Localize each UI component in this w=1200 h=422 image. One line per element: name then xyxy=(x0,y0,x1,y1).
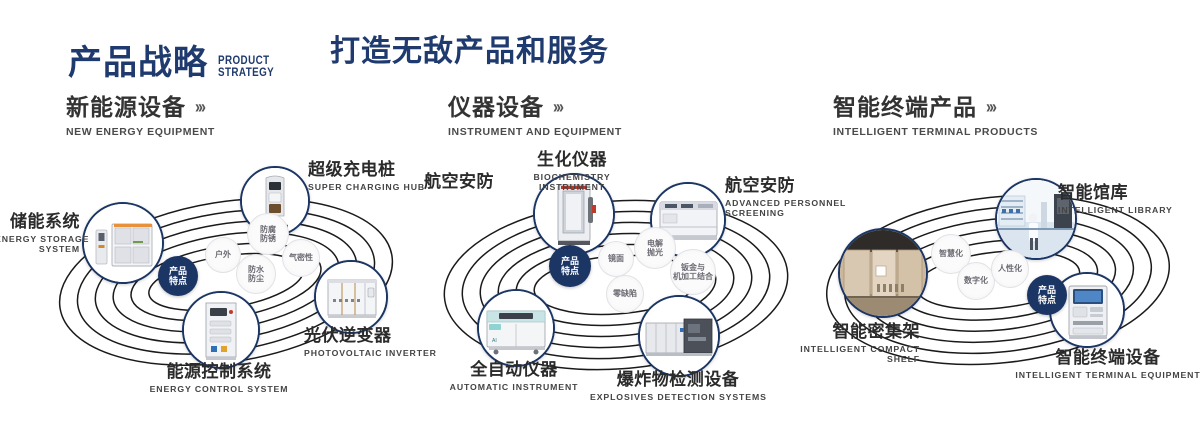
cluster-intelligent-terminal: 智能馆库 INTELLIGENT LIBRARY xyxy=(805,150,1200,415)
feature-label: 户外 xyxy=(215,250,231,259)
node-label-cn: 储能系统 xyxy=(0,212,80,232)
node-label-intelligent-compact-shelf: 智能密集架 INTELLIGENT COMPACTSHELF xyxy=(760,322,920,365)
cluster-instrument: 生化仪器 BIOCHEMISTRYINSTRUMENT 航空安防 航空安防 AD… xyxy=(420,150,820,415)
feature-bubble-electropolishing: 电解抛光 xyxy=(634,227,676,269)
feature-label: 镜面 xyxy=(608,254,624,263)
node-label-en: ENERGY STORAGESYSTEM xyxy=(0,234,80,256)
section-title-en: INTELLIGENT TERMINAL PRODUCTS xyxy=(833,126,1038,138)
feature-bubble-anticorrosion: 防腐防锈 xyxy=(247,213,289,255)
node-label-en: INTELLIGENT COMPACTSHELF xyxy=(760,344,920,366)
node-label-photovoltaic-inverter: 光伏逆变器 PHOTOVOLTAIC INVERTER xyxy=(304,326,437,358)
node-label-intelligent-library: 智能馆库 INTELLIGENT LIBRARY xyxy=(1058,183,1173,215)
badge-product-features: 产品特点 xyxy=(1027,275,1067,315)
svg-text:AI: AI xyxy=(492,338,497,344)
node-label-explosives-detection-systems: 爆炸物检测设备 EXPLOSIVES DETECTION SYSTEMS xyxy=(590,370,766,402)
node-label-intelligent-terminal-equipment: 智能终端设备 INTELLIGENT TERMINAL EQUIPMENT xyxy=(1010,348,1200,380)
chevron-right-icon: ››› xyxy=(553,98,562,117)
poster-stage: 产品战略 PRODUCT STRATEGY 打造无敌产品和服务 新能源设备 ››… xyxy=(0,0,1200,422)
node-label-automatic-instrument: 全自动仪器 AUTOMATIC INSTRUMENT xyxy=(434,360,594,392)
node-label-cn: 爆炸物检测设备 xyxy=(590,370,766,390)
node-label-en: BIOCHEMISTRYINSTRUMENT xyxy=(482,172,662,194)
section-title-intelligent-terminal: 智能终端产品 ››› INTELLIGENT TERMINAL PRODUCTS xyxy=(833,96,1038,138)
node-label-en: INTELLIGENT LIBRARY xyxy=(1058,205,1173,216)
automatic-analyzer-icon: AI xyxy=(479,291,553,365)
cluster-new-energy: 储能系统 ENERGY STORAGESYSTEM 超级充电桩 SUPER CH… xyxy=(30,150,430,415)
section-title-new-energy: 新能源设备 ››› NEW ENERGY EQUIPMENT xyxy=(66,96,215,138)
node-explosives-detection-systems[interactable] xyxy=(638,295,720,377)
node-label-cn: 生化仪器 xyxy=(482,150,662,170)
feature-label: 防水防尘 xyxy=(248,265,264,283)
feature-label: 数字化 xyxy=(964,276,988,285)
chevron-right-icon: ››› xyxy=(195,98,204,117)
node-label-cn: 智能馆库 xyxy=(1058,183,1173,203)
brand-header: 产品战略 PRODUCT STRATEGY xyxy=(68,28,286,80)
headline: 打造无敌产品和服务 xyxy=(330,34,609,70)
badge-label: 产品特点 xyxy=(169,266,187,287)
node-label-cn: 航空安防 xyxy=(398,172,494,192)
node-label-en: ENERGY CONTROL SYSTEM xyxy=(88,384,350,395)
badge-label: 产品特点 xyxy=(1038,285,1056,306)
brand-title-en: PRODUCT STRATEGY xyxy=(218,54,274,78)
node-label-cn: 智能终端设备 xyxy=(1010,348,1200,368)
section-title-cn: 新能源设备 xyxy=(66,96,186,119)
section-title-cn: 智能终端产品 xyxy=(833,96,977,119)
feature-bubble-digital: 数字化 xyxy=(957,262,995,300)
feature-label: 电解抛光 xyxy=(647,239,663,257)
battery-cabinet-icon xyxy=(84,204,162,282)
node-label-cn: 智能密集架 xyxy=(760,322,920,342)
feature-bubble-waterproof: 防水防尘 xyxy=(236,254,276,294)
node-energy-storage-system[interactable] xyxy=(82,202,164,284)
node-intelligent-compact-shelf[interactable] xyxy=(838,228,928,318)
section-title-en: NEW ENERGY EQUIPMENT xyxy=(66,126,215,138)
feature-bubble-humanized: 人性化 xyxy=(991,250,1029,288)
node-label-energy-control-system: 能源控制系统 ENERGY CONTROL SYSTEM xyxy=(88,362,350,394)
badge-label: 产品特点 xyxy=(561,256,579,277)
feature-bubble-sheetmetal-machining: 钣金与机加工结合 xyxy=(670,249,716,295)
feature-bubble-airtight: 气密性 xyxy=(282,239,320,277)
feature-label: 智慧化 xyxy=(939,249,963,258)
feature-bubble-zero-defect: 零缺陷 xyxy=(606,275,644,313)
section-title-en: INSTRUMENT AND EQUIPMENT xyxy=(448,126,622,138)
node-label-en: PHOTOVOLTAIC INVERTER xyxy=(304,348,437,359)
feature-label: 钣金与机加工结合 xyxy=(673,263,713,281)
node-label-cn: 能源控制系统 xyxy=(88,362,350,382)
node-label-en: INTELLIGENT TERMINAL EQUIPMENT xyxy=(1010,370,1200,381)
brand-en-line2: STRATEGY xyxy=(218,66,274,78)
badge-product-features: 产品特点 xyxy=(549,245,591,287)
node-label-en: AUTOMATIC INSTRUMENT xyxy=(434,382,594,393)
control-cabinet-icon xyxy=(184,293,258,367)
section-title-cn: 仪器设备 xyxy=(448,96,544,119)
chevron-right-icon: ››› xyxy=(986,98,995,117)
node-label-en: EXPLOSIVES DETECTION SYSTEMS xyxy=(590,392,766,403)
feature-label: 零缺陷 xyxy=(613,289,637,298)
node-label-biochemistry-instrument: 生化仪器 BIOCHEMISTRYINSTRUMENT xyxy=(482,150,662,193)
feature-bubble-mirror: 镜面 xyxy=(598,241,634,277)
node-label-cn: 全自动仪器 xyxy=(434,360,594,380)
explosive-detector-icon xyxy=(640,297,718,375)
feature-label: 人性化 xyxy=(998,264,1022,273)
feature-label: 防腐防锈 xyxy=(260,225,276,243)
node-automatic-instrument[interactable]: AI xyxy=(477,289,555,367)
feature-label: 气密性 xyxy=(289,253,313,262)
node-label-energy-storage-system: 储能系统 ENERGY STORAGESYSTEM xyxy=(0,212,80,255)
badge-product-features: 产品特点 xyxy=(158,256,198,296)
node-label-cn: 光伏逆变器 xyxy=(304,326,437,346)
node-energy-control-system[interactable] xyxy=(182,291,260,369)
node-label-aviation-security-left: 航空安防 xyxy=(398,172,494,192)
feature-bubble-outdoor: 户外 xyxy=(205,237,241,273)
section-title-instrument: 仪器设备 ››› INSTRUMENT AND EQUIPMENT xyxy=(448,96,622,138)
compact-shelf-icon xyxy=(840,230,926,316)
node-photovoltaic-inverter[interactable] xyxy=(314,260,388,334)
inverter-cabinet-icon xyxy=(316,262,386,332)
brand-title-cn: 产品战略 xyxy=(68,46,208,80)
